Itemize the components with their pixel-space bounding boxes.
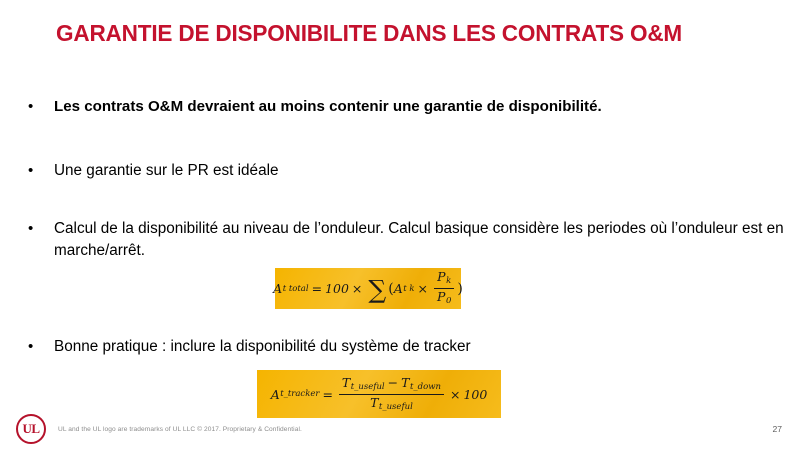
list-item-text: Bonne pratique : inclure la disponibilit… <box>54 336 790 358</box>
formula-box-availability-total: At total=100×∑(At k× Pk P0 ) <box>275 268 461 309</box>
list-item: • Les contrats O&M devraient au moins co… <box>28 96 790 118</box>
formula-lhs-subscript: t_tracker <box>280 389 320 399</box>
formula-fraction: Pk P0 <box>434 270 454 307</box>
formula-coefficient: 100 <box>325 281 349 296</box>
list-item-text: Une garantie sur le PR est idéale <box>54 160 790 182</box>
formula-lhs-subscript: t total <box>282 284 308 294</box>
list-item-text: Les contrats O&M devraient au moins cont… <box>54 96 790 118</box>
bullet-dot-icon: • <box>28 336 42 357</box>
list-item: • Une garantie sur le PR est idéale <box>28 160 790 182</box>
formula-coefficient: 100 <box>463 387 487 402</box>
formula-inner-times: × <box>415 281 431 296</box>
denominator-subscript: t_useful <box>378 402 412 412</box>
formula-equals: = <box>309 281 325 296</box>
formula-minus: − <box>385 375 401 390</box>
logo-label: UL <box>16 414 46 444</box>
bullet-dot-icon: • <box>28 96 42 117</box>
bullet-dot-icon: • <box>28 160 42 181</box>
page-number: 27 <box>772 424 782 434</box>
list-item: • Calcul de la disponibilité au niveau d… <box>28 218 790 262</box>
numerator-first-symbol: T <box>342 375 350 390</box>
summation-icon: ∑ <box>365 280 388 300</box>
numerator-first-subscript: t_useful <box>350 382 384 392</box>
fraction-denominator: P0 <box>434 289 454 307</box>
numerator-second-subscript: t_down <box>409 382 440 392</box>
formula-times: × <box>349 281 365 296</box>
formula-fraction: Tt_useful−Tt_down Tt_useful <box>339 376 444 413</box>
formula-times: × <box>447 387 463 402</box>
formula-lhs: A <box>271 387 280 402</box>
formula-close-paren: ) <box>457 281 462 297</box>
slide: GARANTIE DE DISPONIBILITE DANS LES CONTR… <box>0 0 800 450</box>
page-title: GARANTIE DE DISPONIBILITE DANS LES CONTR… <box>56 19 728 48</box>
formula-equals: = <box>319 387 335 402</box>
list-item-text: Calcul de la disponibilité au niveau de … <box>54 218 790 262</box>
formula-term-a-subscript: t k <box>403 284 415 294</box>
numerator-subscript: k <box>446 276 452 286</box>
fraction-denominator: Tt_useful <box>367 395 416 413</box>
formula-lhs: A <box>273 281 282 296</box>
numerator-symbol: P <box>437 269 445 284</box>
footer-trademark-note: UL and the UL logo are trademarks of UL … <box>58 426 302 433</box>
formula-expression: At total=100×∑(At k× Pk P0 ) <box>273 270 463 307</box>
formula-expression: At_tracker= Tt_useful−Tt_down Tt_useful … <box>271 376 488 413</box>
denominator-subscript: 0 <box>445 296 451 306</box>
bullet-dot-icon: • <box>28 218 42 239</box>
ul-logo-icon: UL <box>16 414 46 444</box>
fraction-numerator: Tt_useful−Tt_down <box>339 376 444 395</box>
list-item: • Bonne pratique : inclure la disponibil… <box>28 336 790 358</box>
formula-box-availability-tracker: At_tracker= Tt_useful−Tt_down Tt_useful … <box>257 370 501 418</box>
fraction-numerator: Pk <box>434 270 454 289</box>
formula-term-a: A <box>394 281 403 296</box>
